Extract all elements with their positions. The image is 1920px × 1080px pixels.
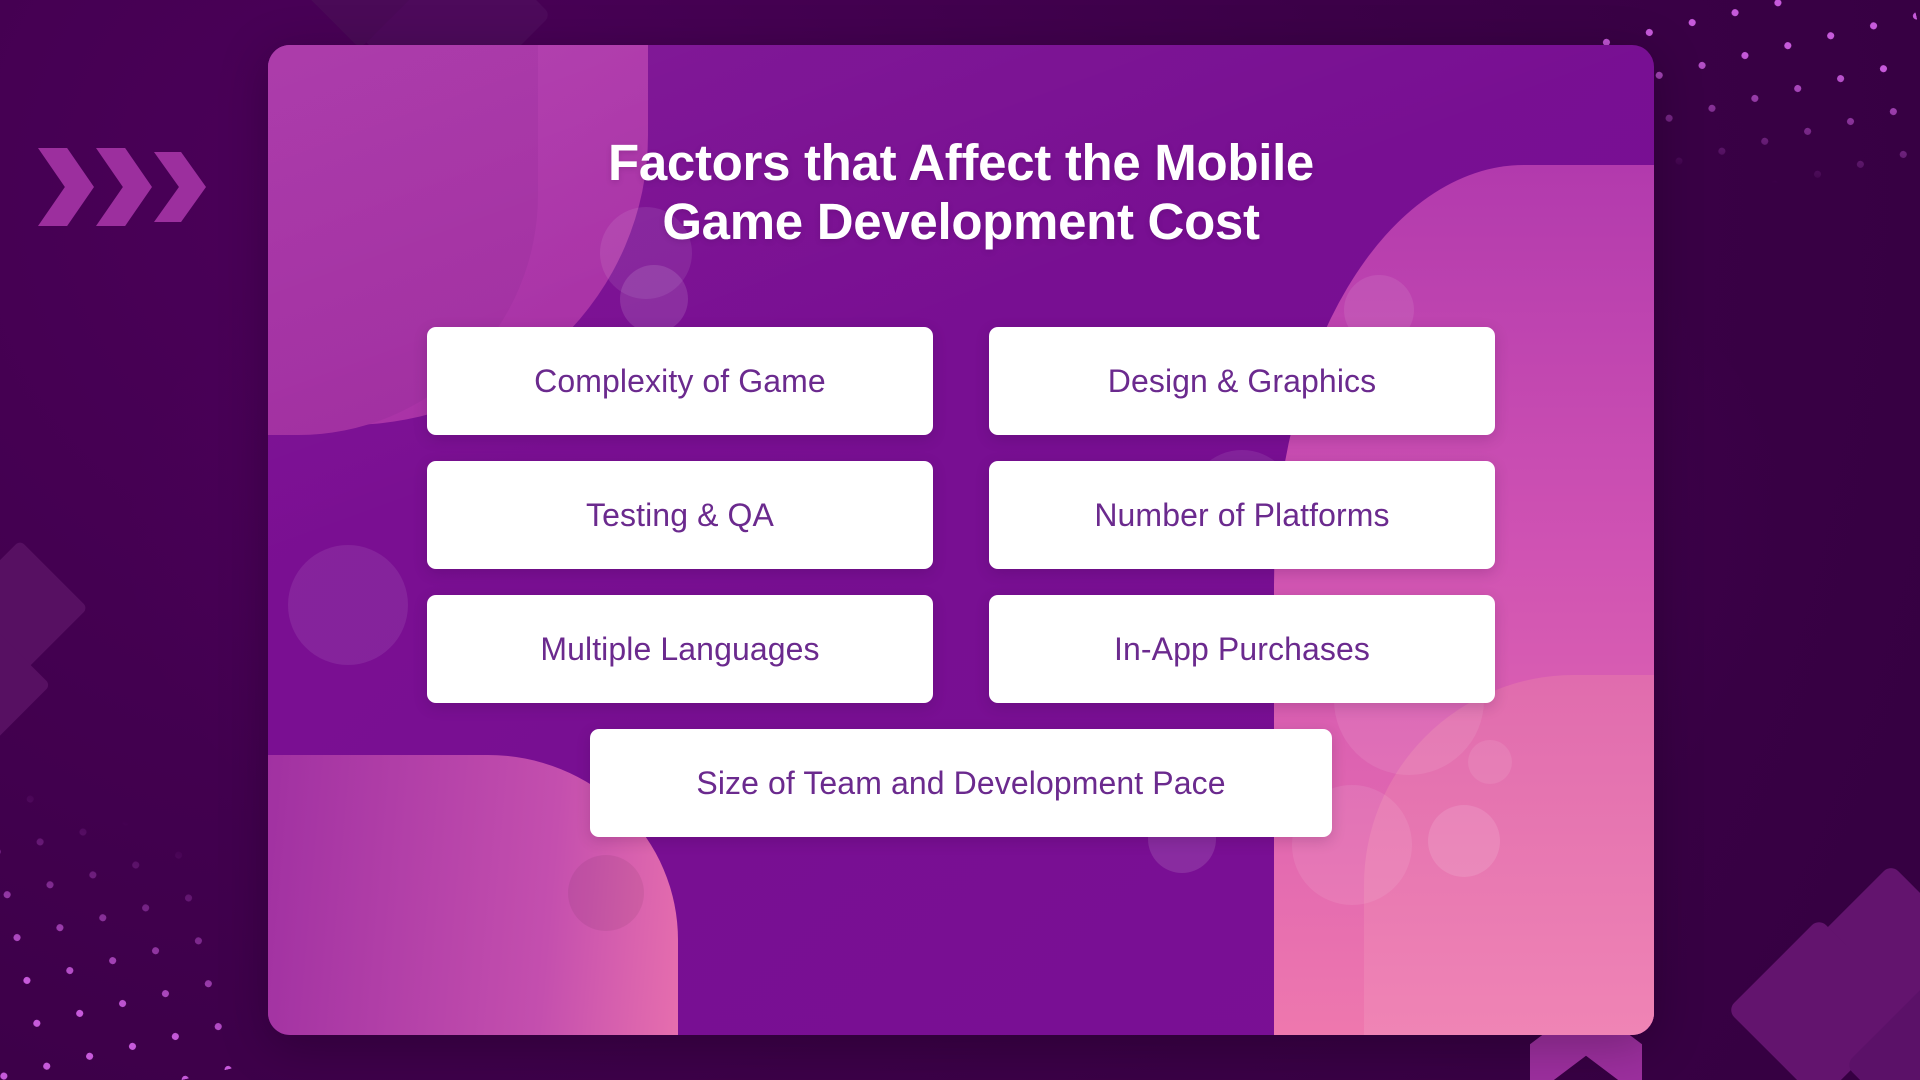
card-content: Factors that Affect the Mobile Game Deve… (268, 45, 1654, 837)
factor-chip-number-of-platforms[interactable]: Number of Platforms (989, 461, 1495, 569)
chevron-right-icon-2 (96, 148, 152, 226)
chevron-right-icon-1 (38, 148, 94, 226)
factor-label: Size of Team and Development Pace (696, 765, 1225, 802)
factor-label: Design & Graphics (1108, 363, 1376, 400)
page-title-line-1: Factors that Affect the Mobile (608, 134, 1314, 191)
factor-chip-testing-and-qa[interactable]: Testing & QA (427, 461, 933, 569)
factor-chip-multiple-languages[interactable]: Multiple Languages (427, 595, 933, 703)
factor-label: In-App Purchases (1114, 631, 1370, 668)
infographic-card: Factors that Affect the Mobile Game Deve… (268, 45, 1654, 1035)
factor-label: Complexity of Game (534, 363, 826, 400)
chevron-right-icon-3 (154, 152, 206, 222)
factor-label: Testing & QA (586, 497, 774, 534)
factor-label: Number of Platforms (1094, 497, 1389, 534)
factor-chip-size-of-team-and-development-pace[interactable]: Size of Team and Development Pace (590, 729, 1332, 837)
factor-chip-in-app-purchases[interactable]: In-App Purchases (989, 595, 1495, 703)
factors-grid-last-row: Size of Team and Development Pace (427, 703, 1495, 837)
factor-chip-complexity-of-game[interactable]: Complexity of Game (427, 327, 933, 435)
page-title: Factors that Affect the Mobile Game Deve… (268, 133, 1654, 251)
factor-chip-design-and-graphics[interactable]: Design & Graphics (989, 327, 1495, 435)
factors-grid: Complexity of Game Design & Graphics Tes… (427, 251, 1495, 703)
factor-label: Multiple Languages (540, 631, 819, 668)
chevron-right-icon-group (38, 148, 206, 226)
page-title-line-2: Game Development Cost (268, 192, 1654, 251)
